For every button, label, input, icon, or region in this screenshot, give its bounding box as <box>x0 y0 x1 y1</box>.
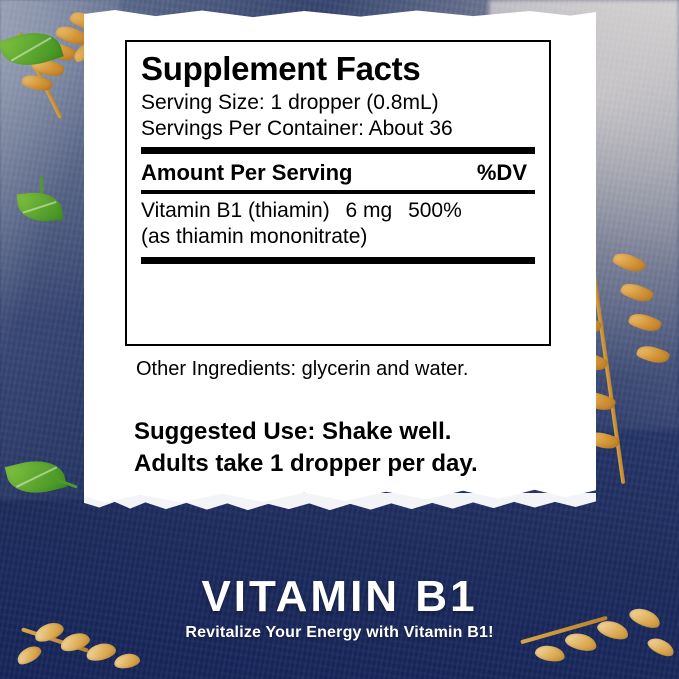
amount-per-serving-row: Amount Per Serving %DV <box>141 160 535 186</box>
suggested-use-text: Suggested Use: Shake well. Adults take 1… <box>134 416 564 479</box>
divider-medium <box>141 190 535 194</box>
nutrient-row: Vitamin B1 (thiamin) 6 mg 500% <box>141 198 535 224</box>
amount-per-serving-label: Amount Per Serving <box>141 160 352 186</box>
supplement-facts-box: Supplement Facts Serving Size: 1 dropper… <box>125 40 551 346</box>
serving-size-line: Serving Size: 1 dropper (0.8mL) <box>141 90 535 116</box>
nutrient-daily-value: 500% <box>408 199 462 222</box>
servings-per-container-line: Servings Per Container: About 36 <box>141 116 535 142</box>
product-title: VITAMIN B1 <box>0 572 679 622</box>
product-tagline: Revitalize Your Energy with Vitamin B1! <box>0 624 679 642</box>
other-ingredients-text: Other Ingredients: glycerin and water. <box>136 358 556 381</box>
suggested-use-line-1: Suggested Use: Shake well. <box>134 416 564 448</box>
divider-thick-top <box>141 147 535 154</box>
suggested-use-line-2: Adults take 1 dropper per day. <box>134 448 564 480</box>
supplement-facts-title: Supplement Facts <box>141 52 535 87</box>
nutrient-amount: 6 mg <box>346 199 393 222</box>
torn-paper-panel: Supplement Facts Serving Size: 1 dropper… <box>84 8 596 513</box>
divider-thick-bottom <box>141 257 535 264</box>
nutrient-source: (as thiamin mononitrate) <box>141 224 535 250</box>
nutrient-name: Vitamin B1 (thiamin) <box>141 199 330 222</box>
daily-value-label: %DV <box>477 160 527 186</box>
product-label-image: Supplement Facts Serving Size: 1 dropper… <box>0 0 679 679</box>
